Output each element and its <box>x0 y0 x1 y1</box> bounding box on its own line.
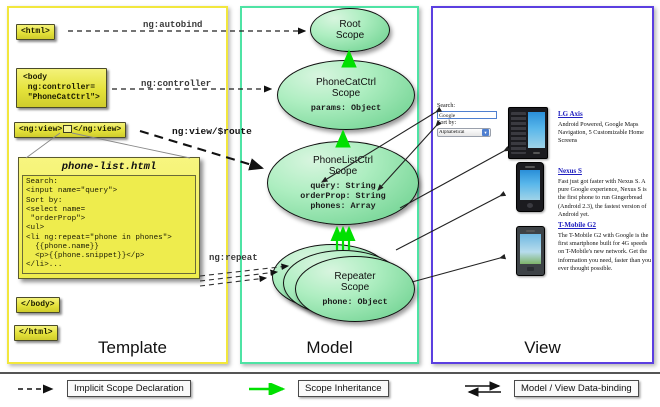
html-close-tag: </html> <box>14 325 58 341</box>
scope-repeater-name: Repeater Scope <box>334 271 375 293</box>
ngview-open-label: <ng:view> <box>19 125 62 134</box>
phone-image-1 <box>508 107 548 159</box>
phone-entry-2: Nexus S Fast just got faster with Nexus … <box>558 167 652 219</box>
legend-item-inheritance: Scope Inheritance <box>247 380 389 397</box>
scope-phonelistctrl: PhoneListCtrl Scope query: String orderP… <box>267 141 419 225</box>
search-label: Search: <box>437 103 509 111</box>
scope-root-name-line2: Scope <box>336 30 364 41</box>
scope-root: Root Scope <box>310 8 390 52</box>
html-open-tag: <html> <box>16 24 55 40</box>
phone-entry-3: T-Mobile G2 The T-Mobile G2 with Google … <box>558 221 652 273</box>
ngview-close-label: </ng:view> <box>73 125 121 134</box>
connector-label-ng-controller: ng:controller <box>141 79 211 89</box>
scope-phonelistctrl-name: PhoneListCtrl Scope <box>313 155 373 177</box>
legend-label-inheritance: Scope Inheritance <box>298 380 389 397</box>
phone-link-3[interactable]: T-Mobile G2 <box>558 221 652 229</box>
connector-label-ng-repeat: ng:repeat <box>209 253 258 263</box>
chevron-down-icon: ▾ <box>482 129 489 136</box>
legend-dashed-arrow-icon <box>16 383 62 395</box>
legend-double-arrow-icon <box>463 381 509 397</box>
scope-phonecatctrl-props: params: Object <box>311 103 381 113</box>
ngview-placeholder-icon <box>63 125 72 133</box>
phone-image-2 <box>516 162 544 212</box>
legend-green-arrow-icon <box>247 383 293 395</box>
scope-repeater-name-line1: Repeater <box>334 271 375 282</box>
legend: Implicit Scope Declaration Scope Inherit… <box>0 372 660 407</box>
scope-phonelistctrl-name-line2: Scope <box>329 166 357 177</box>
scope-repeater-props: phone: Object <box>322 297 387 307</box>
phone-entry-1: LG Axis Android Powered, Google Maps Nav… <box>558 110 652 146</box>
scope-phonecatctrl-name: PhoneCatCtrl Scope <box>316 77 376 99</box>
scope-phonelistctrl-name-line1: PhoneListCtrl <box>313 155 373 166</box>
scope-root-name-line1: Root <box>339 19 360 30</box>
connector-label-ng-view-route: ng:view/$route <box>172 126 252 137</box>
legend-item-databinding: Model / View Data-binding <box>463 380 639 397</box>
phone-list-html-note: phone-list.html Search: <input name="que… <box>18 157 200 279</box>
view-search-form: Search: Google Sort by: Alphabetical ▾ <box>437 103 509 137</box>
scope-root-name: Root Scope <box>336 19 364 41</box>
sort-select[interactable]: Alphabetical ▾ <box>437 128 491 137</box>
legend-item-implicit: Implicit Scope Declaration <box>16 380 191 397</box>
legend-label-implicit: Implicit Scope Declaration <box>67 380 191 397</box>
scope-repeater: Repeater Scope phone: Object <box>295 256 415 322</box>
ngview-tag: <ng:view></ng:view> <box>14 122 126 138</box>
phone-list-note-code: Search: <input name="query"> Sort by: <s… <box>22 175 196 274</box>
phone-list-note-title: phone-list.html <box>19 158 199 175</box>
sort-select-value: Alphabetical <box>439 130 482 135</box>
phone-snippet-3: The T-Mobile G2 with Google is the first… <box>558 232 652 273</box>
panel-model-label: Model <box>242 338 417 358</box>
connector-label-ng-autobind: ng:autobind <box>143 20 202 30</box>
phone-image-3 <box>516 226 545 276</box>
scope-phonelistctrl-props: query: String orderProp: String phones: … <box>300 181 385 211</box>
phone-link-2[interactable]: Nexus S <box>558 167 652 175</box>
search-input[interactable]: Google <box>437 111 497 119</box>
phone-link-1[interactable]: LG Axis <box>558 110 652 118</box>
body-open-tag: <body ng:controller= "PhoneCatCtrl"> <box>16 68 107 108</box>
body-close-tag: </body> <box>16 297 60 313</box>
diagram-canvas: Template Model View <html> <body ng:cont… <box>0 0 660 405</box>
panel-view-label: View <box>433 338 652 358</box>
panel-template-label: Template <box>9 338 226 358</box>
scope-repeater-name-line2: Scope <box>341 282 369 293</box>
legend-label-databinding: Model / View Data-binding <box>514 380 639 397</box>
phone-snippet-1: Android Powered, Google Maps Navigation,… <box>558 121 652 146</box>
scope-phonecatctrl: PhoneCatCtrl Scope params: Object <box>277 60 415 130</box>
phone-snippet-2: Fast just got faster with Nexus S. A pur… <box>558 178 652 219</box>
scope-phonecatctrl-name-line2: Scope <box>332 88 360 99</box>
sort-label: Sort by: <box>437 120 509 128</box>
scope-phonecatctrl-name-line1: PhoneCatCtrl <box>316 77 376 88</box>
